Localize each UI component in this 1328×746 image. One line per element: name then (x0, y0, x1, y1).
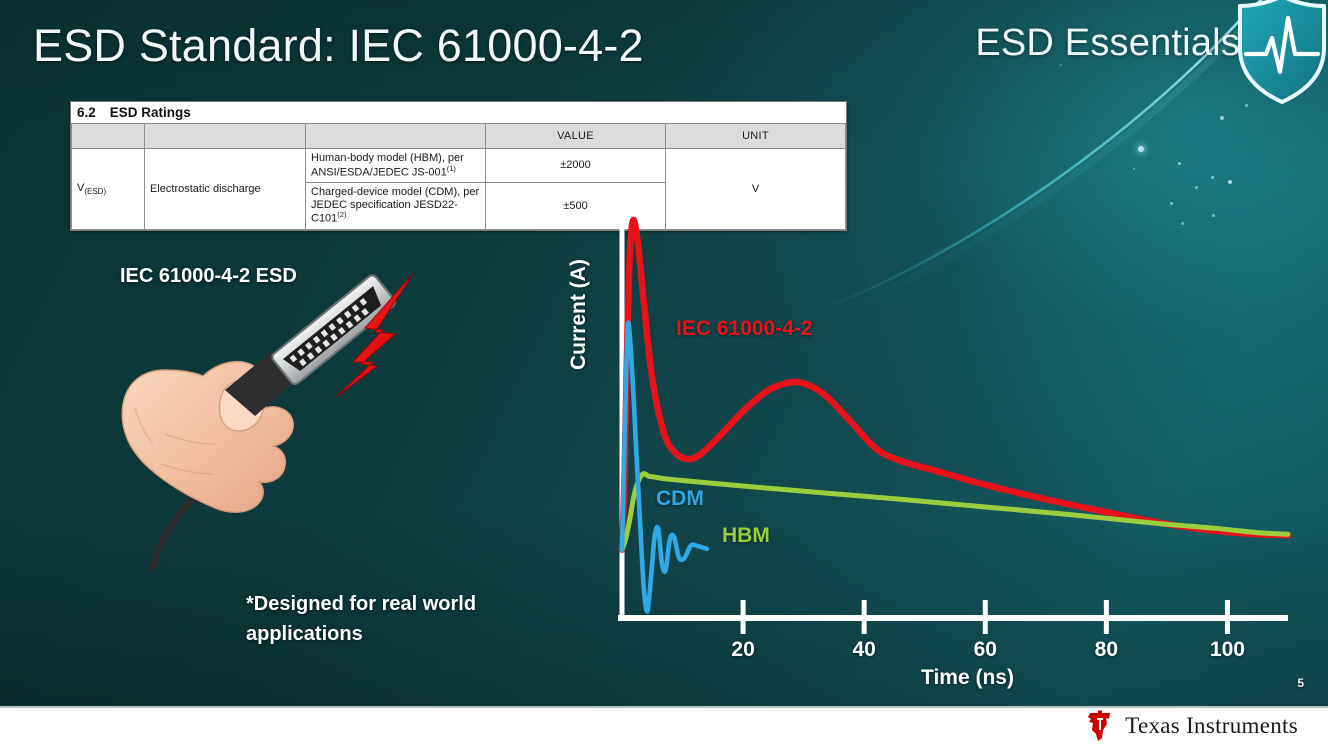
real-world-note: *Designed for real world applications (246, 589, 546, 649)
cell-value-hbm: ±2000 (486, 149, 666, 183)
sparkle-dot (1133, 168, 1135, 170)
esd-shield-icon (1236, 0, 1328, 106)
chart-x-tick-label: 80 (1076, 638, 1136, 662)
header-blank-parameter (145, 124, 306, 149)
cell-description-cdm: Charged-device model (CDM), per JEDEC sp… (306, 182, 486, 229)
chart-x-tick-label: 100 (1197, 638, 1257, 662)
sparkle-dot (1138, 146, 1144, 152)
hand-holding-hdmi-connector-icon (95, 258, 435, 578)
chart-x-tick-label: 40 (834, 638, 894, 662)
chart-x-tick-label: 60 (955, 638, 1015, 662)
cell-symbol: V(ESD) (72, 149, 145, 230)
table-caption-text: ESD Ratings (110, 105, 191, 120)
header-blank-symbol (72, 124, 145, 149)
footnote-ref-hbm: (1) (447, 164, 456, 173)
sparkle-dot (1211, 176, 1214, 179)
header-unit: UNIT (666, 124, 846, 149)
page-title: ESD Standard: IEC 61000-4-2 (33, 20, 644, 72)
slide-root: ESD Standard: IEC 61000-4-2 ESD Essentia… (0, 0, 1328, 746)
description-text-hbm: Human-body model (HBM), per ANSI/ESDA/JE… (311, 152, 464, 178)
table-row: V(ESD) Electrostatic discharge Human-bod… (72, 149, 846, 183)
sparkle-dot (1178, 162, 1181, 165)
ti-texas-icon (1085, 710, 1115, 742)
sparkle-dot (1228, 180, 1232, 184)
table-header-row: VALUE UNIT (72, 124, 846, 149)
texas-instruments-logo: Texas Instruments (1085, 707, 1298, 745)
header-blank-description (306, 124, 486, 149)
cell-parameter: Electrostatic discharge (145, 149, 306, 230)
header-value: VALUE (486, 124, 666, 149)
brand-label: ESD Essentials (975, 22, 1240, 65)
table-caption: 6.2ESD Ratings (71, 102, 846, 123)
ti-company-name: Texas Instruments (1125, 713, 1298, 739)
cell-description-hbm: Human-body model (HBM), per ANSI/ESDA/JE… (306, 149, 486, 183)
symbol-subscript: (ESD) (84, 187, 106, 196)
esd-waveform-chart (570, 200, 1310, 670)
sparkle-dot (1195, 186, 1198, 189)
footnote-ref-cdm: (2) (337, 210, 346, 219)
page-number: 5 (1297, 676, 1304, 690)
series-line-cdm (622, 323, 707, 612)
sparkle-dot (1220, 116, 1224, 120)
table-caption-number: 6.2 (77, 105, 96, 120)
series-line-hbm (622, 474, 1288, 550)
chart-x-tick-label: 20 (713, 638, 773, 662)
series-line-iec (622, 220, 1288, 550)
description-text-cdm: Charged-device model (CDM), per JEDEC sp… (311, 186, 479, 225)
